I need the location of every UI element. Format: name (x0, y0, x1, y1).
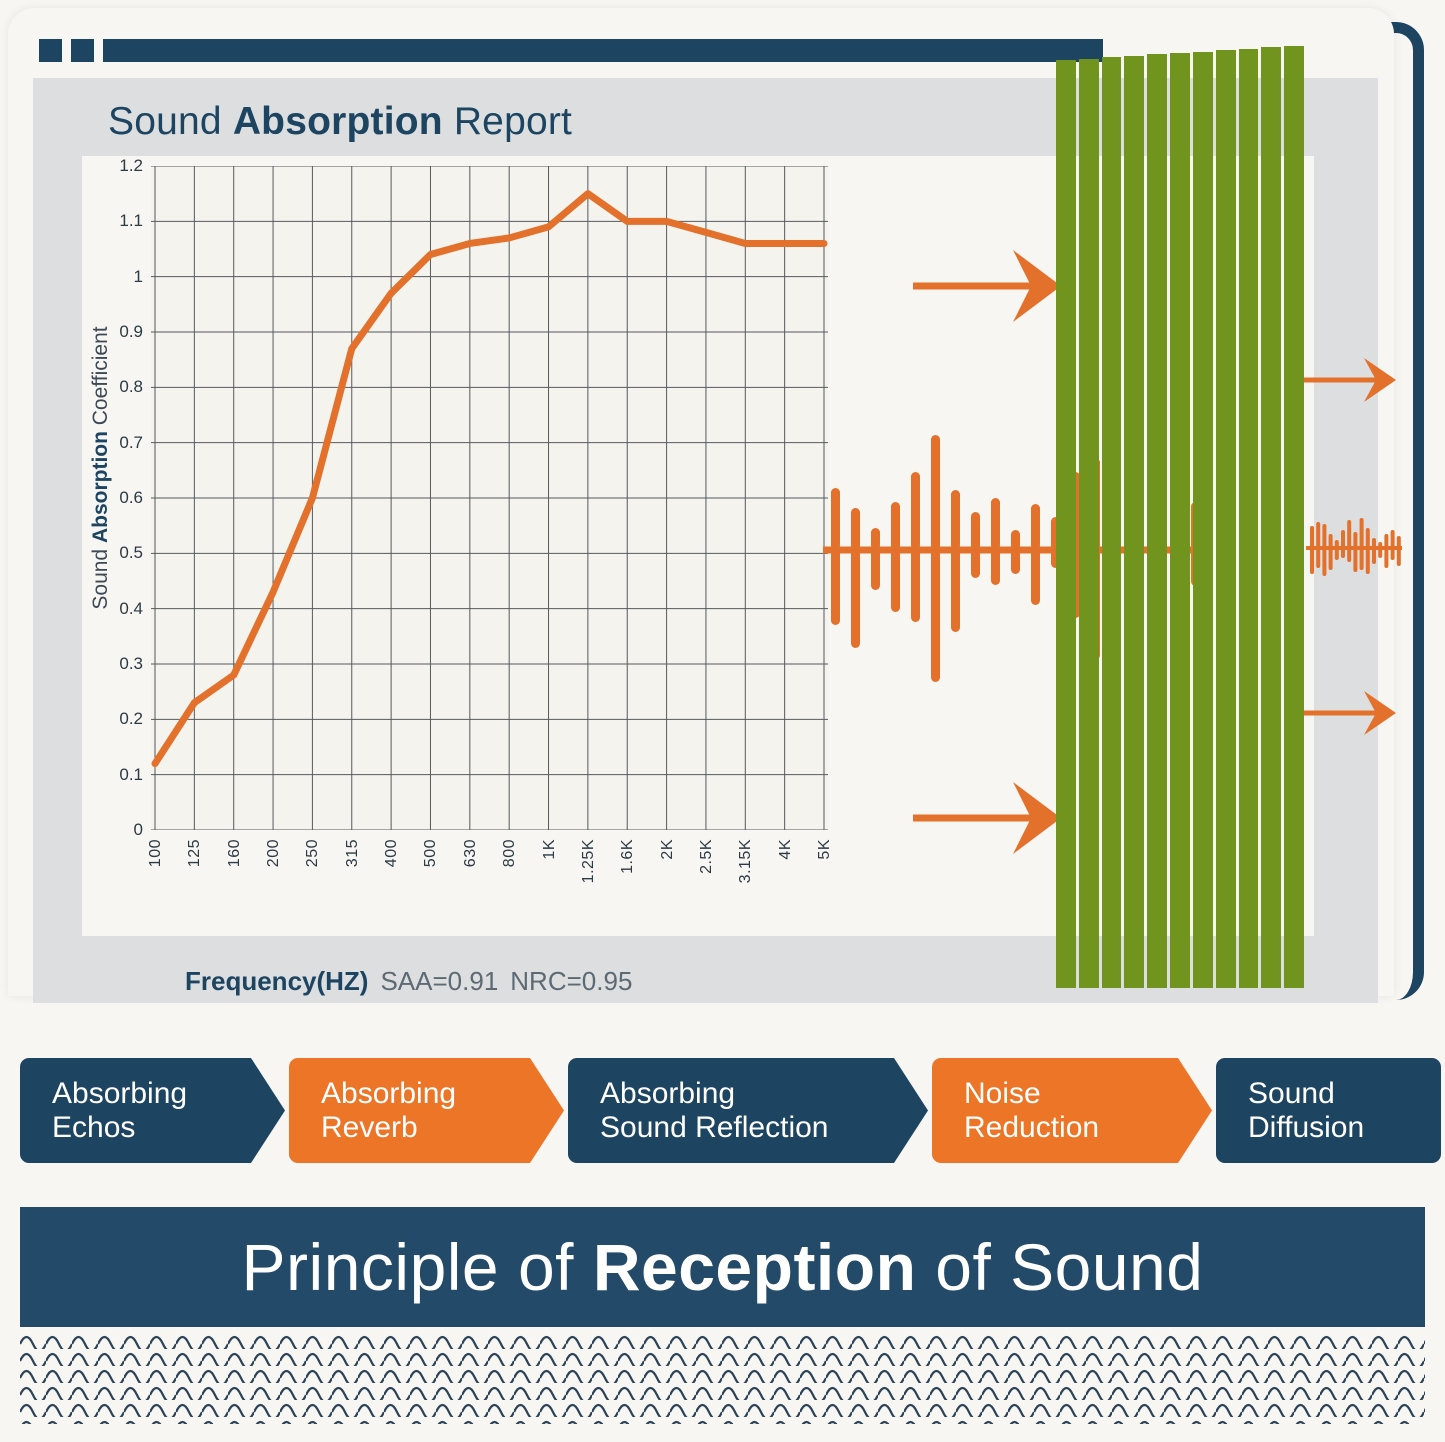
feature-chip-label: AbsorbingReverb (321, 1077, 456, 1144)
acoustic-slat (1239, 49, 1259, 988)
feature-chip[interactable]: NoiseReduction (932, 1058, 1212, 1163)
acoustic-slat (1147, 54, 1167, 988)
feature-chip[interactable]: AbsorbingSound Reflection (568, 1058, 928, 1163)
window-square-icon-2 (71, 39, 94, 62)
y-axis-label-suffix: Coefficient (89, 326, 112, 431)
banner-bold: Reception (593, 1230, 917, 1304)
y-tick-label: 0.8 (119, 377, 143, 397)
x-tick-label: 1.25K (580, 839, 598, 883)
feature-chip-line1: Sound (1248, 1077, 1364, 1111)
report-title-suffix: Report (443, 100, 572, 143)
report-title-prefix: Sound (108, 100, 233, 143)
x-tick-label: 1.6K (619, 839, 637, 874)
x-tick-label: 4K (777, 839, 795, 860)
window-square-icon-1 (39, 39, 62, 62)
feature-chip-label: SoundDiffusion (1248, 1077, 1364, 1144)
y-tick-label: 0.3 (119, 654, 143, 674)
y-tick-label: 1 (134, 267, 143, 287)
acoustic-slat (1193, 52, 1213, 988)
window-bar-icon (103, 39, 1103, 62)
feature-chip-line2: Echos (52, 1111, 187, 1145)
y-tick-label: 0 (134, 820, 143, 840)
acoustic-slat (1079, 59, 1099, 988)
report-card: Sound Absorption Report Sound Absorption… (8, 8, 1394, 996)
x-tick-label: 100 (147, 839, 165, 867)
banner-suffix: of Sound (916, 1230, 1203, 1304)
y-axis-label-prefix: Sound (89, 543, 112, 610)
feature-chip[interactable]: AbsorbingEchos (20, 1058, 285, 1163)
feature-chip-line2: Reverb (321, 1111, 456, 1145)
plot-area: 1.21.110.90.80.70.60.50.40.30.20.1010012… (151, 166, 828, 830)
feature-ribbon: AbsorbingEchosAbsorbingReverbAbsorbingSo… (20, 1058, 1425, 1163)
chart-svg (151, 166, 828, 830)
window-decoration (39, 39, 1103, 62)
x-tick-label: 2.5K (698, 839, 716, 874)
acoustic-slat (1284, 46, 1304, 988)
feature-chip-line2: Sound Reflection (600, 1111, 829, 1145)
y-axis-label: Sound Absorption Coefficient (89, 248, 113, 688)
acoustic-slat (1056, 60, 1076, 988)
y-tick-label: 0.4 (119, 599, 143, 619)
y-tick-label: 1.2 (119, 156, 143, 176)
feature-chip-line2: Diffusion (1248, 1111, 1364, 1145)
x-tick-label: 500 (422, 839, 440, 867)
acoustic-slat-panel (1056, 60, 1304, 988)
wave-texture (20, 1332, 1425, 1432)
y-axis-label-bold: Absorption (89, 431, 112, 543)
acoustic-slat (1102, 57, 1122, 988)
acoustic-slat (1124, 56, 1144, 988)
nrc-value: NRC=0.95 (510, 966, 632, 996)
acoustic-slat (1261, 47, 1281, 988)
y-tick-label: 1.1 (119, 211, 143, 231)
frequency-label: Frequency(HZ) (185, 966, 368, 996)
feature-chip-line2: Reduction (964, 1111, 1099, 1145)
feature-chip-label: AbsorbingSound Reflection (600, 1077, 829, 1144)
y-tick-label: 0.6 (119, 488, 143, 508)
banner-text: Principle of Reception of Sound (242, 1229, 1204, 1305)
x-tick-label: 2K (659, 839, 677, 860)
y-tick-label: 0.7 (119, 433, 143, 453)
x-tick-label: 800 (501, 839, 519, 867)
x-tick-label: 250 (304, 839, 322, 867)
feature-chip-line1: Noise (964, 1077, 1099, 1111)
x-tick-label: 3.15K (737, 839, 755, 883)
acoustic-slat (1216, 50, 1236, 988)
y-tick-label: 0.1 (119, 765, 143, 785)
y-tick-label: 0.9 (119, 322, 143, 342)
feature-chip-label: NoiseReduction (964, 1077, 1099, 1144)
x-tick-label: 160 (226, 839, 244, 867)
feature-chip[interactable]: SoundDiffusion (1216, 1058, 1441, 1163)
feature-chip-label: AbsorbingEchos (52, 1077, 187, 1144)
feature-chip[interactable]: AbsorbingReverb (289, 1058, 564, 1163)
x-tick-label: 315 (344, 839, 362, 867)
feature-chip-line1: Absorbing (600, 1077, 829, 1111)
y-tick-label: 0.2 (119, 709, 143, 729)
report-title: Sound Absorption Report (108, 100, 572, 144)
acoustic-slat (1170, 53, 1190, 988)
x-tick-label: 630 (462, 839, 480, 867)
saa-value: SAA=0.91 (380, 966, 498, 996)
x-tick-label: 200 (265, 839, 283, 867)
feature-chip-line1: Absorbing (321, 1077, 456, 1111)
title-banner: Principle of Reception of Sound (20, 1207, 1425, 1327)
x-tick-label: 400 (383, 839, 401, 867)
y-tick-label: 0.5 (119, 543, 143, 563)
banner-prefix: Principle of (242, 1230, 593, 1304)
x-tick-label: 5K (816, 839, 834, 860)
poster-root: Sound Absorption Report Sound Absorption… (0, 0, 1445, 1442)
chart-footer: Frequency(HZ)SAA=0.91NRC=0.95 (185, 966, 632, 997)
x-tick-label: 1K (541, 839, 559, 860)
feature-chip-line1: Absorbing (52, 1077, 187, 1111)
x-tick-label: 125 (186, 839, 204, 867)
wave-texture-svg (20, 1332, 1425, 1432)
report-title-bold: Absorption (233, 100, 443, 143)
